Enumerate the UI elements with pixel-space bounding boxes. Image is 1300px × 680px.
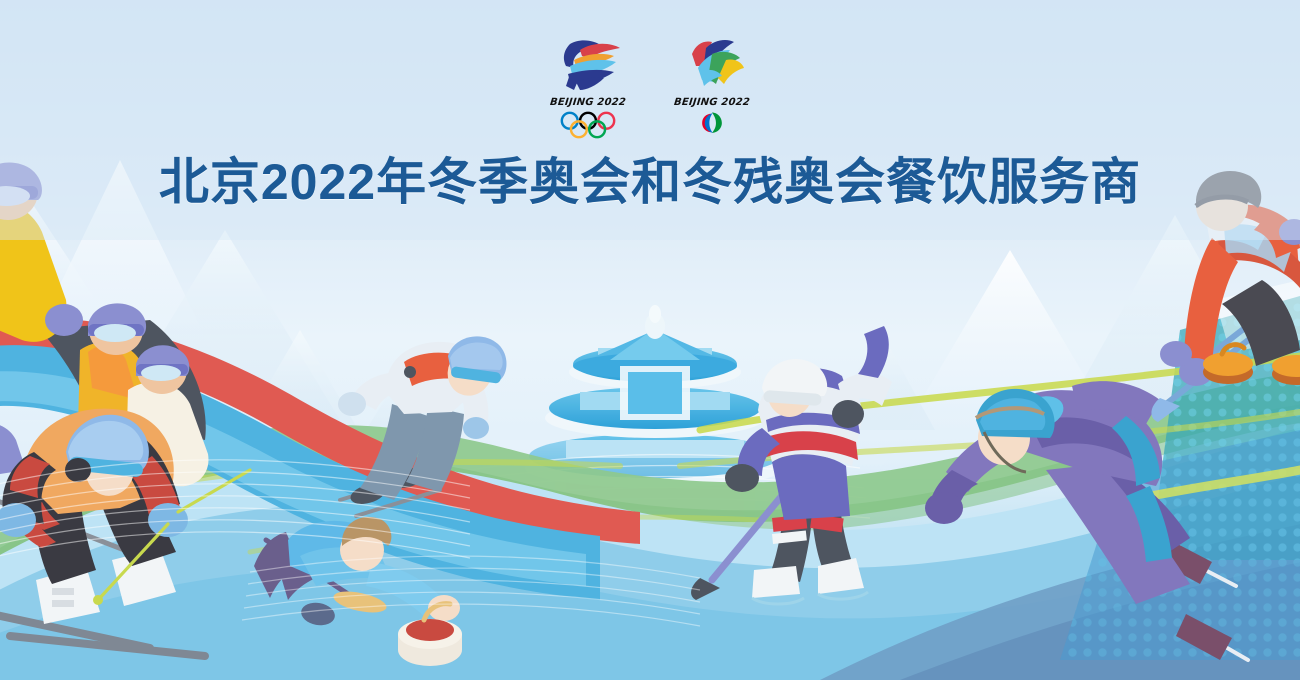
paralympic-wordmark: BEIJING 2022 (663, 97, 760, 108)
page-title: 北京2022年冬季奥会和冬残奥会餐饮服务商 (0, 142, 1300, 214)
olympic-rings (540, 111, 636, 139)
olympic-emblem: BEIJING 2022 (540, 34, 636, 134)
olympic-catering-banner: BEIJING 2022 (0, 0, 1300, 680)
olympic-wordmark: BEIJING 2022 (539, 97, 636, 108)
olympic-dong-symbol (540, 34, 636, 96)
paralympic-emblem: BEIJING 2022 (664, 34, 760, 134)
paralympic-agitos (664, 111, 760, 135)
paralympic-fei-symbol (664, 34, 760, 96)
emblem-row: BEIJING 2022 (0, 34, 1300, 134)
